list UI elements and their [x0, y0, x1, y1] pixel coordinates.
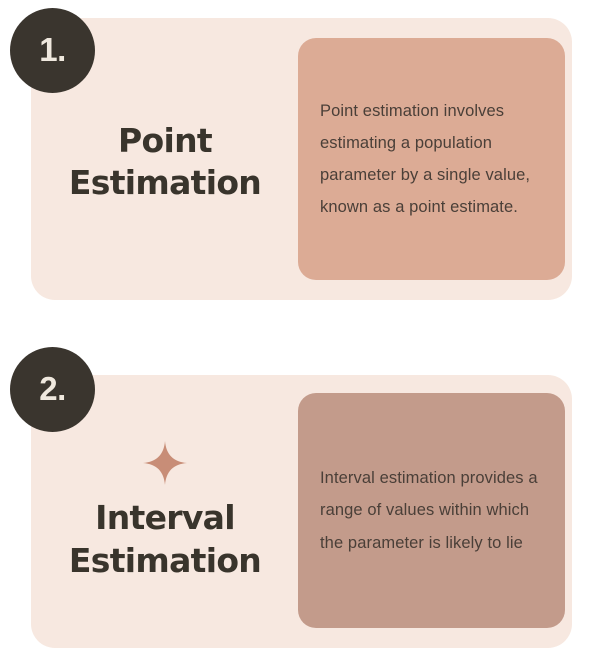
four-pointed-star-icon [143, 441, 187, 485]
description-panel-point-estimation: Point estimation involves estimating a p… [298, 38, 565, 280]
description-panel-interval-estimation: Interval estimation provides a range of … [298, 393, 565, 628]
card-title-line-2: Estimation [69, 541, 261, 580]
card-title-line-1: Point [118, 121, 212, 160]
step-badge-1-label: 1. [39, 33, 66, 66]
description-text-point-estimation: Point estimation involves estimating a p… [320, 95, 545, 224]
card-title-interval-estimation: Interval Estimation [69, 497, 261, 581]
step-badge-2: 2. [10, 347, 95, 432]
step-badge-2-label: 2. [39, 372, 66, 405]
card-title-line-2: Estimation [69, 163, 261, 202]
card-title-point-estimation: Point Estimation [69, 120, 261, 204]
step-badge-1: 1. [10, 8, 95, 93]
description-text-interval-estimation: Interval estimation provides a range of … [320, 462, 545, 559]
infographic-container: Point Estimation Point estimation involv… [0, 0, 600, 658]
card-title-line-1: Interval [95, 498, 235, 537]
